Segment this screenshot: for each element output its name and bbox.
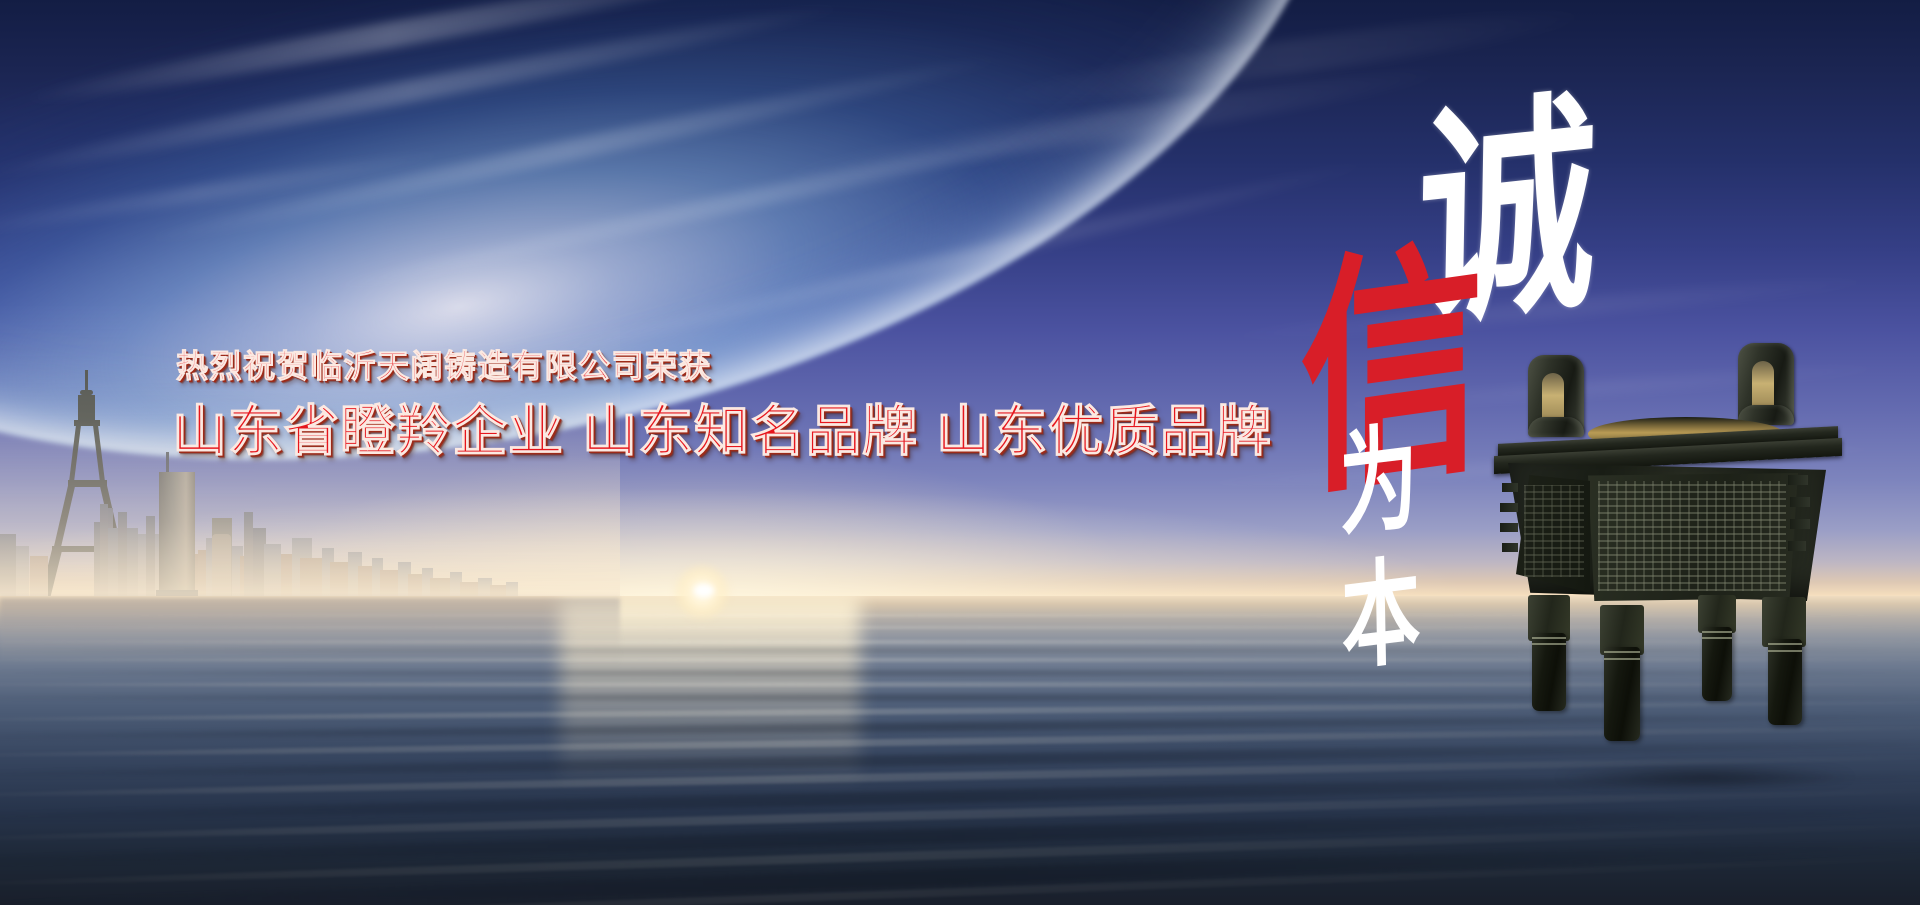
- skyline-reflection: [0, 598, 620, 668]
- hero-banner: 诚 信 为本: [0, 0, 1920, 905]
- award-1: 山东省瞪羚企业: [172, 399, 564, 463]
- award-3: 山东优质品牌: [936, 399, 1272, 463]
- calligraphy-weiben: 为本: [1332, 416, 1415, 692]
- award-2: 山东知名品牌: [582, 399, 918, 463]
- sun-core: [694, 584, 714, 597]
- headline-awards: 山东省瞪羚企业山东知名品牌山东优质品牌: [172, 386, 1272, 466]
- headline-subtitle: 热烈祝贺临沂天阔铸造有限公司荣获: [176, 341, 712, 387]
- bronze-ding-vessel: [1480, 355, 1910, 785]
